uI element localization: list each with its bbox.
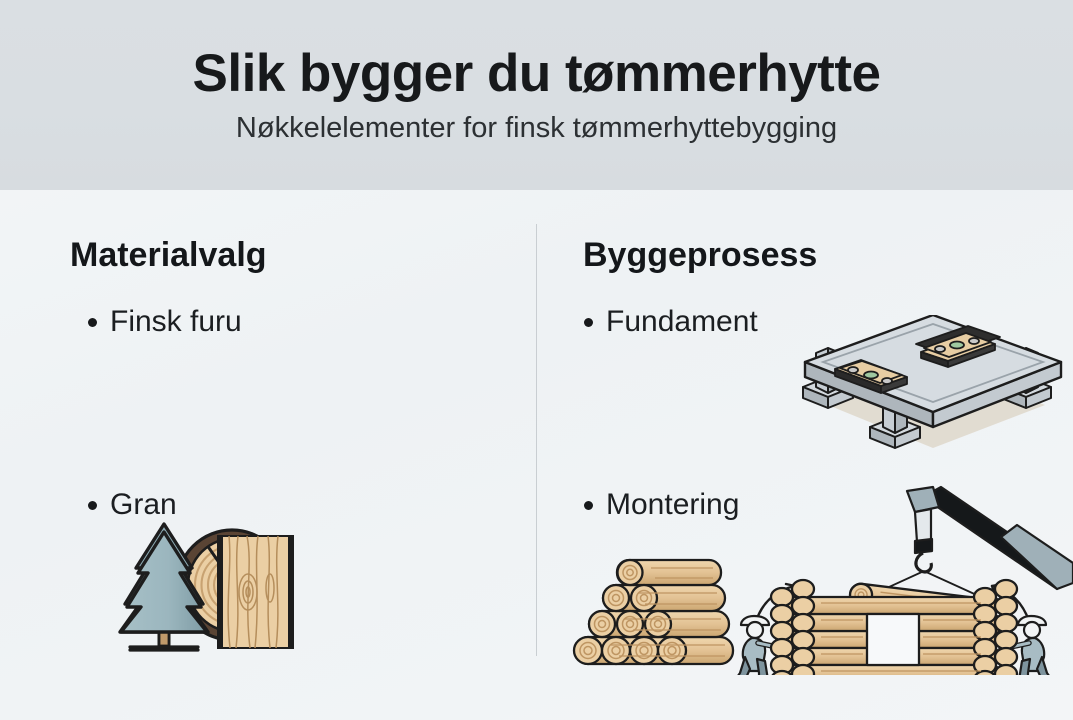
- column-materialvalg: Materialvalg Finsk furu: [0, 190, 536, 720]
- poster-header: Slik bygger du tømmerhytte Nøkkelelement…: [0, 0, 1073, 190]
- infographic-poster: Slik bygger du tømmerhytte Nøkkelelement…: [0, 0, 1073, 720]
- illustration-spruce-and-plank: [108, 528, 298, 658]
- list-item-fundament: Fundament: [584, 307, 758, 337]
- column-heading-process: Byggeprosess: [583, 238, 817, 272]
- spruce-tree-icon: [121, 532, 207, 647]
- list-item-label: Fundament: [606, 307, 758, 337]
- illustration-foundation: [783, 315, 1073, 475]
- list-item-label: Gran: [110, 490, 177, 520]
- list-item-gran: Gran: [88, 490, 177, 520]
- list-item-label: Finsk furu: [110, 307, 242, 337]
- bullet-dot-icon: [584, 318, 593, 327]
- crane-icon: [867, 487, 1073, 597]
- wood-plank-icon: [218, 536, 293, 648]
- bullet-dot-icon: [88, 501, 97, 510]
- list-item-finsk-furu: Finsk furu: [88, 307, 242, 337]
- page-title: Slik bygger du tømmerhytte: [193, 47, 881, 100]
- page-subtitle: Nøkkelelementer for finsk tømmerhyttebyg…: [236, 114, 837, 143]
- column-heading-materials: Materialvalg: [70, 238, 267, 272]
- column-byggeprosess: Byggeprosess Fundament: [537, 190, 1073, 720]
- log-stack-icon: [574, 560, 733, 664]
- illustration-assembly: [549, 485, 1073, 675]
- bullet-dot-icon: [88, 318, 97, 327]
- foundation-icon: [803, 315, 1061, 448]
